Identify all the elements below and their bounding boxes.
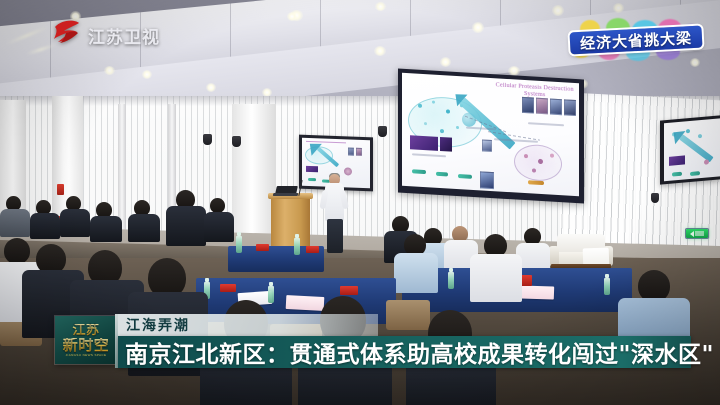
kicker-bar: 江海弄潮	[118, 314, 378, 336]
structural-column	[232, 104, 276, 242]
jiangsu-tv-flame-logo-icon	[52, 18, 82, 52]
right-monitor	[660, 115, 720, 184]
molecule-dot	[446, 109, 450, 113]
inset-image	[482, 139, 492, 152]
water-bottle	[604, 278, 610, 295]
wall-speaker-icon	[232, 136, 241, 147]
program-logo: 江苏 新时空 JIANGSU NEWS SPACE	[55, 316, 117, 364]
teal-label-pill	[458, 174, 472, 179]
downlight-icon	[287, 12, 297, 21]
downlight-icon	[374, 46, 386, 56]
teal-label-pill	[412, 169, 426, 174]
downlight-icon	[142, 70, 152, 79]
water-bottle	[268, 286, 274, 303]
molecule-dot	[432, 100, 435, 103]
purple-gel-image	[410, 135, 438, 151]
wall-speaker-icon	[651, 193, 659, 203]
portrait-photo	[550, 99, 562, 116]
laptop	[275, 186, 298, 194]
downlight-icon	[613, 3, 624, 13]
paper-document	[286, 295, 325, 311]
main-projection-screen: Cellular Proteasis Destruction Systems	[398, 68, 584, 203]
fire-extinguisher-box-icon	[57, 184, 64, 195]
broadcast-frame: Cellular Proteasis Destruction Systems	[0, 0, 720, 405]
molecule-dot	[538, 159, 543, 164]
presenter-trousers	[327, 219, 343, 253]
lower-third: 江海弄潮 南京江北新区：贯通式体系助高校成果转化闯过"深水区"	[118, 314, 691, 368]
teal-label-pill	[436, 172, 448, 177]
slide-surface: Cellular Proteasis Destruction Systems	[402, 73, 579, 197]
program-logo-line1: 江苏	[72, 324, 99, 337]
downlight-icon	[440, 57, 451, 67]
water-bottle	[236, 236, 242, 253]
downlight-icon	[375, 2, 386, 11]
channel-name: 江苏卫视	[88, 23, 160, 48]
orange-label-pill	[528, 180, 544, 185]
name-placard	[306, 246, 319, 253]
headline-text: 南京江北新区：贯通式体系助高校成果转化闯过"深水区"	[125, 335, 714, 369]
molecule-dot	[418, 104, 422, 108]
slide-title: Cellular Proteasis Destruction Systems	[494, 82, 575, 101]
molecule-dot	[550, 154, 554, 158]
name-placard	[340, 286, 358, 295]
downlight-icon	[552, 5, 564, 16]
purple-gel-image	[440, 137, 452, 152]
paper-document	[520, 285, 554, 299]
channel-watermark: 江苏卫视	[52, 18, 160, 52]
water-bottle	[294, 238, 300, 255]
program-logo-line2: 新时空	[63, 338, 110, 353]
slide-caption	[412, 153, 446, 157]
slide-caption	[528, 122, 564, 126]
kicker-text: 江海弄潮	[126, 315, 190, 335]
headline-bar: 南京江北新区：贯通式体系助高校成果转化闯过"深水区"	[118, 336, 691, 368]
water-bottle	[448, 272, 454, 289]
portrait-photo	[522, 97, 534, 114]
downlight-icon	[104, 66, 115, 75]
downlight-icon	[206, 83, 216, 92]
molecule-dot	[524, 154, 528, 158]
name-placard	[256, 244, 269, 251]
molecule-dot	[440, 129, 444, 133]
molecule-dot	[532, 168, 536, 172]
portrait-photo	[536, 98, 548, 115]
molecule-dot	[456, 126, 459, 129]
wall-speaker-icon	[378, 126, 387, 137]
downlight-icon	[472, 22, 484, 33]
program-badge: 经济大省挑大梁	[562, 20, 710, 60]
inset-image	[480, 171, 494, 189]
exit-arrow-left-icon	[686, 229, 708, 238]
portrait-photo	[564, 99, 576, 116]
slide-surface	[664, 118, 720, 181]
wall-speaker-icon	[203, 134, 212, 145]
molecule-dot	[424, 122, 427, 125]
program-logo-subtitle: JIANGSU NEWS SPACE	[66, 354, 107, 357]
name-placard	[220, 284, 236, 292]
